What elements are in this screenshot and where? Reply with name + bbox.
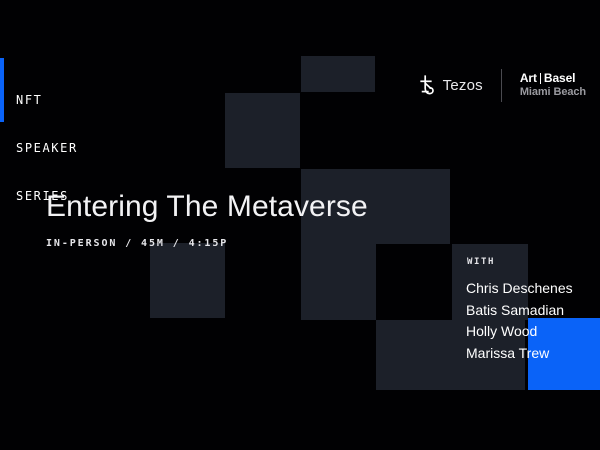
series-mark-line-2: SPEAKER <box>16 140 78 156</box>
tezos-wordmark: Tezos <box>443 77 483 94</box>
list-item: Batis Samadian <box>466 300 573 322</box>
accent-bar-left <box>0 58 4 122</box>
brand-lockup: Tezos Art Basel Miami Beach <box>419 68 586 102</box>
list-item: Marissa Trew <box>466 343 573 365</box>
decorative-block-2 <box>225 93 300 168</box>
session-meta: IN-PERSON / 45M / 4:15P <box>46 238 228 249</box>
art-basel-logo: Art Basel Miami Beach <box>520 72 586 98</box>
session-title: Entering The Metaverse <box>46 190 368 224</box>
decorative-notch <box>376 244 452 320</box>
event-slide: NFT SPEAKER SERIES Tezos Art Basel <box>0 0 600 450</box>
decorative-block-1 <box>301 56 375 92</box>
brand-divider <box>501 69 502 102</box>
tezos-logo: Tezos <box>419 75 483 96</box>
speakers-label: WITH <box>467 257 495 267</box>
decorative-block-4 <box>150 243 225 318</box>
art-basel-title: Art Basel <box>520 72 576 84</box>
art-basel-separator <box>540 73 541 84</box>
art-basel-word-one: Art <box>520 72 537 84</box>
speakers-list: Chris Deschenes Batis Samadian Holly Woo… <box>466 278 573 364</box>
series-mark-line-1: NFT <box>16 92 78 108</box>
list-item: Chris Deschenes <box>466 278 573 300</box>
art-basel-location: Miami Beach <box>520 87 586 98</box>
list-item: Holly Wood <box>466 321 573 343</box>
tezos-tz-glyph-icon <box>419 75 436 96</box>
art-basel-word-two: Basel <box>544 72 576 84</box>
